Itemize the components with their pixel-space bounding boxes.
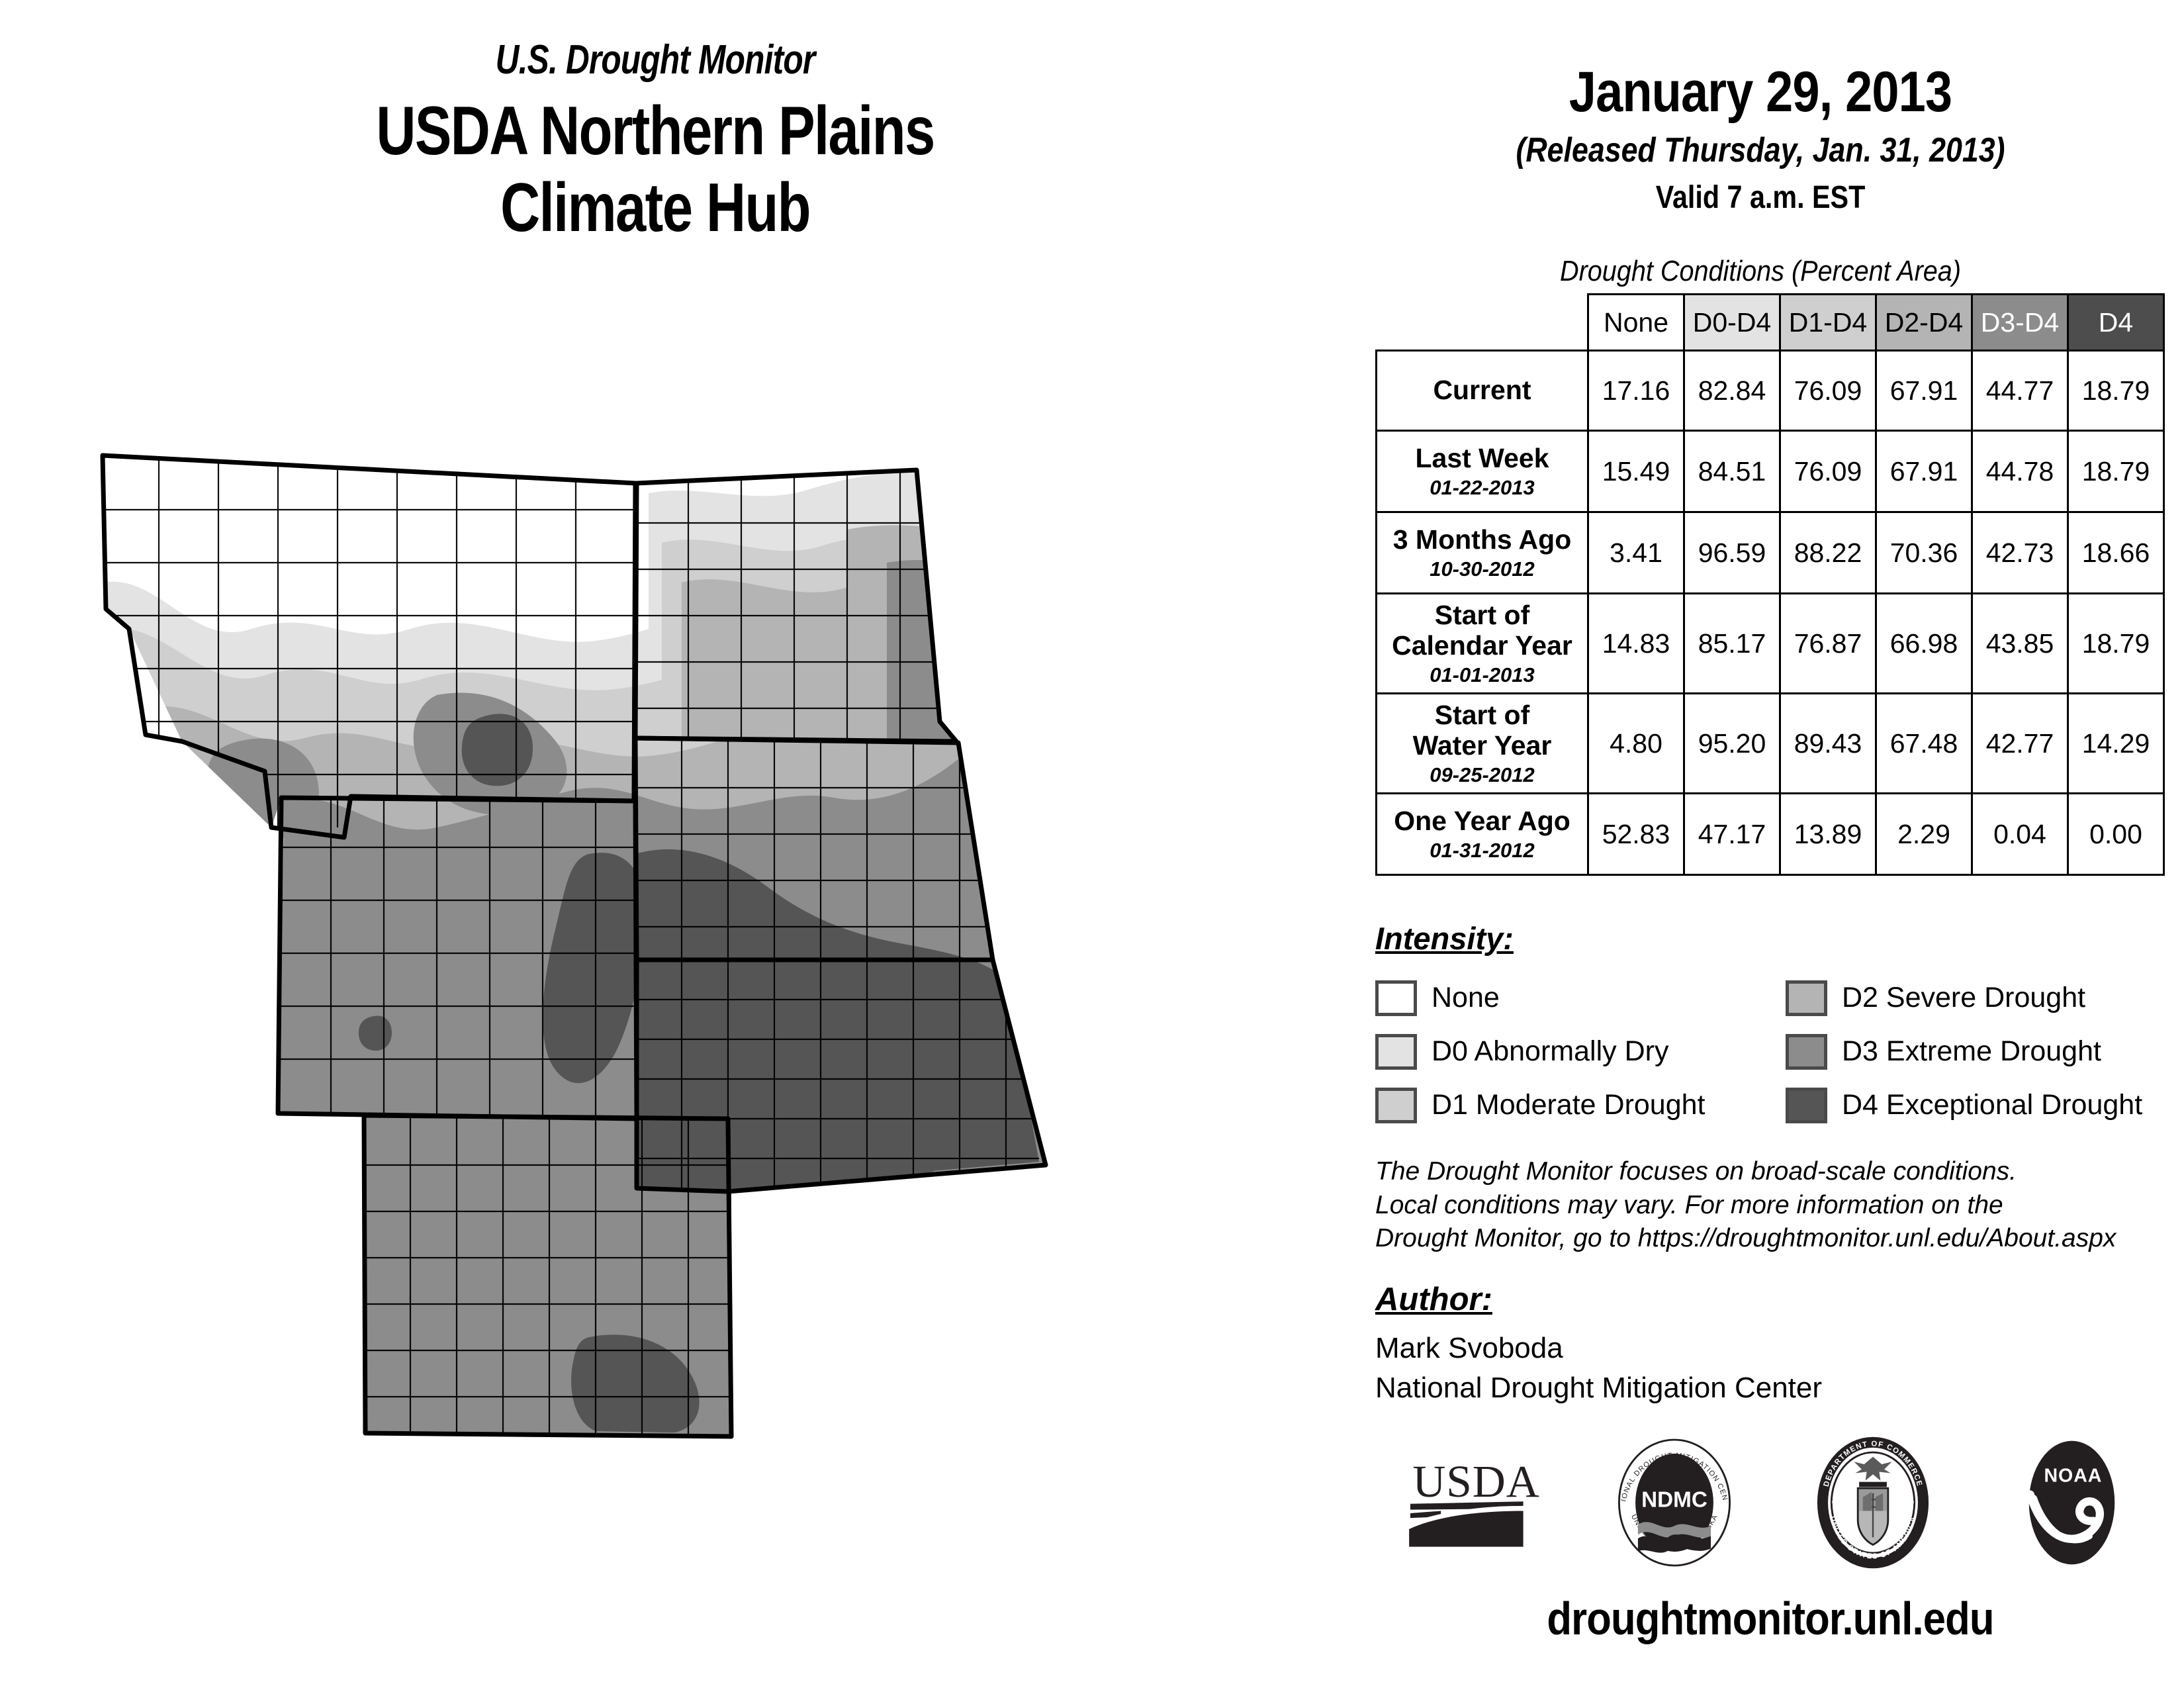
cell-d1-d4: 13.89	[1780, 794, 1876, 875]
table-header-row: None D0-D4 D1-D4 D2-D4 D3-D4 D4	[1377, 295, 2164, 351]
legend-item-d3: D3 Extreme Drought	[1786, 1025, 2184, 1078]
cell-d0-d4: 95.20	[1684, 694, 1780, 794]
author-org: National Drought Mitigation Center	[1375, 1368, 2169, 1408]
swatch-d0	[1375, 1034, 1417, 1070]
column-header-none: None	[1588, 295, 1684, 351]
cell-d4: 18.79	[2068, 594, 2164, 694]
table-row: Start of Water Year 09-25-2012 4.80 95.2…	[1377, 694, 2164, 794]
column-header-d0-d4: D0-D4	[1684, 295, 1780, 351]
legend-item-d1: D1 Moderate Drought	[1375, 1078, 1786, 1132]
map-svg	[66, 430, 1324, 1489]
swatch-d1	[1375, 1088, 1417, 1123]
table-row: One Year Ago 01-31-2012 52.83 47.17 13.8…	[1377, 794, 2164, 875]
row-label-one-year-ago: One Year Ago 01-31-2012	[1377, 794, 1588, 875]
footer-url: droughtmonitor.unl.edu	[1412, 1592, 2128, 1645]
row-label-3-months-ago: 3 Months Ago 10-30-2012	[1377, 512, 1588, 594]
cell-d0-d4: 47.17	[1684, 794, 1780, 875]
cell-d1-d4: 76.09	[1780, 351, 1876, 431]
cell-d0-d4: 85.17	[1684, 594, 1780, 694]
row-title: Current	[1433, 375, 1531, 405]
drought-conditions-table: None D0-D4 D1-D4 D2-D4 D3-D4 D4 Current …	[1375, 293, 2165, 876]
row-date: 10-30-2012	[1377, 558, 1587, 581]
cell-d4: 0.00	[2068, 794, 2164, 875]
page-title-line1: USDA Northern Plains	[131, 93, 1179, 169]
swatch-none	[1375, 980, 1417, 1016]
table-row: Current 17.16 82.84 76.09 67.91 44.77 18…	[1377, 351, 2164, 431]
row-label-start-of-water-year: Start of Water Year 09-25-2012	[1377, 694, 1588, 794]
cell-d3-d4: 43.85	[1972, 594, 2068, 694]
row-title: 3 Months Ago	[1393, 524, 1572, 555]
header-corner-blank	[1377, 295, 1588, 351]
row-title: Last Week	[1415, 443, 1549, 473]
row-date: 09-25-2012	[1377, 764, 1587, 787]
cell-d2-d4: 67.91	[1876, 351, 1972, 431]
noaa-logo-svg: NOAA	[2014, 1436, 2130, 1569]
date-block: January 29, 2013 (Released Thursday, Jan…	[1363, 60, 2158, 216]
cell-d3-d4: 44.77	[1972, 351, 2068, 431]
row-label-current: Current	[1377, 351, 1588, 431]
cell-none: 17.16	[1588, 351, 1684, 431]
row-label-last-week: Last Week 01-22-2013	[1377, 431, 1588, 512]
valid-time: Valid 7 a.m. EST	[1419, 179, 2102, 216]
noaa-logo: NOAA	[1995, 1432, 2148, 1574]
right-panel: January 29, 2013 (Released Thursday, Jan…	[1363, 0, 2184, 1688]
intensity-legend: Intensity: None D2 Severe Drought D0 Abn…	[1375, 920, 2169, 1132]
cell-d1-d4: 76.09	[1780, 431, 1876, 512]
svg-text:NOAA: NOAA	[2044, 1466, 2102, 1487]
author-block: Author: Mark Svoboda National Drought Mi…	[1375, 1281, 2169, 1408]
cell-d4: 18.79	[2068, 351, 2164, 431]
legend-label: D1 Moderate Drought	[1432, 1089, 1706, 1121]
column-header-d3-d4: D3-D4	[1972, 295, 2068, 351]
page-subtitle: U.S. Drought Monitor	[131, 36, 1179, 83]
legend-title: Intensity:	[1375, 920, 1514, 957]
usda-logo: USDA	[1400, 1432, 1552, 1574]
cell-d4: 18.66	[2068, 512, 2164, 594]
row-title-line2: Water Year	[1413, 730, 1552, 761]
legend-label: D2 Severe Drought	[1842, 982, 2085, 1014]
row-label-start-of-calendar-year: Start of Calendar Year 01-01-2013	[1377, 594, 1588, 694]
report-date: January 29, 2013	[1419, 60, 2102, 125]
cell-d1-d4: 89.43	[1780, 694, 1876, 794]
legend-label: D0 Abnormally Dry	[1432, 1035, 1668, 1068]
cell-none: 15.49	[1588, 431, 1684, 512]
legend-label: None	[1432, 982, 1500, 1014]
author-title: Author:	[1375, 1281, 1492, 1318]
doc-seal-logo: DEPARTMENT OF COMMERCE UNITED STATES OF …	[1797, 1432, 1949, 1574]
cell-d0-d4: 96.59	[1684, 512, 1780, 594]
legend-item-d0: D0 Abnormally Dry	[1375, 1025, 1786, 1078]
legend-item-none: None	[1375, 971, 1786, 1025]
cell-d2-d4: 70.36	[1876, 512, 1972, 594]
cell-d0-d4: 82.84	[1684, 351, 1780, 431]
cell-none: 3.41	[1588, 512, 1684, 594]
disclaimer-line-2: Local conditions may vary. For more info…	[1375, 1189, 2176, 1223]
swatch-d3	[1786, 1034, 1827, 1070]
svg-text:NDMC: NDMC	[1641, 1488, 1707, 1513]
table-row: Start of Calendar Year 01-01-2013 14.83 …	[1377, 594, 2164, 694]
swatch-d4	[1786, 1088, 1827, 1123]
row-title-line1: Start of	[1435, 700, 1530, 730]
disclaimer-line-3: Drought Monitor, go to https://droughtmo…	[1375, 1222, 2176, 1256]
cell-d3-d4: 44.78	[1972, 431, 2068, 512]
cell-d1-d4: 88.22	[1780, 512, 1876, 594]
cell-d2-d4: 67.48	[1876, 694, 1972, 794]
cell-d2-d4: 2.29	[1876, 794, 1972, 875]
row-title: One Year Ago	[1394, 806, 1570, 836]
table-row: 3 Months Ago 10-30-2012 3.41 96.59 88.22…	[1377, 512, 2164, 594]
column-header-d1-d4: D1-D4	[1780, 295, 1876, 351]
row-date: 01-22-2013	[1377, 477, 1587, 500]
disclaimer-line-1: The Drought Monitor focuses on broad-sca…	[1375, 1155, 2176, 1189]
row-date: 01-01-2013	[1377, 664, 1587, 687]
row-date: 01-31-2012	[1377, 839, 1587, 863]
cell-d4: 14.29	[2068, 694, 2164, 794]
drought-map	[66, 430, 1324, 1489]
column-header-d4: D4	[2068, 295, 2164, 351]
ndmc-logo-svg: NATIONAL DROUGHT MITIGATION CENTER UNIVE…	[1612, 1436, 1737, 1569]
swatch-d2	[1786, 980, 1827, 1016]
table-caption: Drought Conditions (Percent Area)	[1403, 255, 2118, 288]
released-date: (Released Thursday, Jan. 31, 2013)	[1419, 130, 2102, 170]
legend-item-d2: D2 Severe Drought	[1786, 971, 2184, 1025]
row-title-line1: Start of	[1435, 600, 1530, 630]
cell-d2-d4: 67.91	[1876, 431, 1972, 512]
cell-d1-d4: 76.87	[1780, 594, 1876, 694]
ndmc-logo: NATIONAL DROUGHT MITIGATION CENTER UNIVE…	[1598, 1432, 1751, 1574]
column-header-d2-d4: D2-D4	[1876, 295, 1972, 351]
doc-seal-svg: DEPARTMENT OF COMMERCE UNITED STATES OF …	[1810, 1436, 1936, 1569]
svg-text:USDA: USDA	[1412, 1456, 1539, 1507]
cell-none: 14.83	[1588, 594, 1684, 694]
cell-d3-d4: 42.77	[1972, 694, 2068, 794]
legend-label: D4 Exceptional Drought	[1842, 1089, 2142, 1121]
logo-row: USDA NATIONAL DROUGHT MITIGATION CENTER	[1377, 1427, 2171, 1579]
cell-none: 52.83	[1588, 794, 1684, 875]
table-row: Last Week 01-22-2013 15.49 84.51 76.09 6…	[1377, 431, 2164, 512]
page-title: USDA Northern Plains Climate Hub	[131, 93, 1179, 247]
cell-d3-d4: 42.73	[1972, 512, 2068, 594]
author-name: Mark Svoboda	[1375, 1329, 2169, 1368]
disclaimer-text: The Drought Monitor focuses on broad-sca…	[1375, 1155, 2176, 1256]
cell-d2-d4: 66.98	[1876, 594, 1972, 694]
usda-logo-svg: USDA	[1405, 1450, 1547, 1556]
cell-d0-d4: 84.51	[1684, 431, 1780, 512]
page-title-line2: Climate Hub	[131, 169, 1179, 246]
legend-label: D3 Extreme Drought	[1842, 1035, 2101, 1068]
cell-d3-d4: 0.04	[1972, 794, 2068, 875]
legend-item-d4: D4 Exceptional Drought	[1786, 1078, 2184, 1132]
row-title-line2: Calendar Year	[1392, 630, 1572, 661]
cell-d4: 18.79	[2068, 431, 2164, 512]
title-block: U.S. Drought Monitor USDA Northern Plain…	[0, 36, 1310, 247]
cell-none: 4.80	[1588, 694, 1684, 794]
